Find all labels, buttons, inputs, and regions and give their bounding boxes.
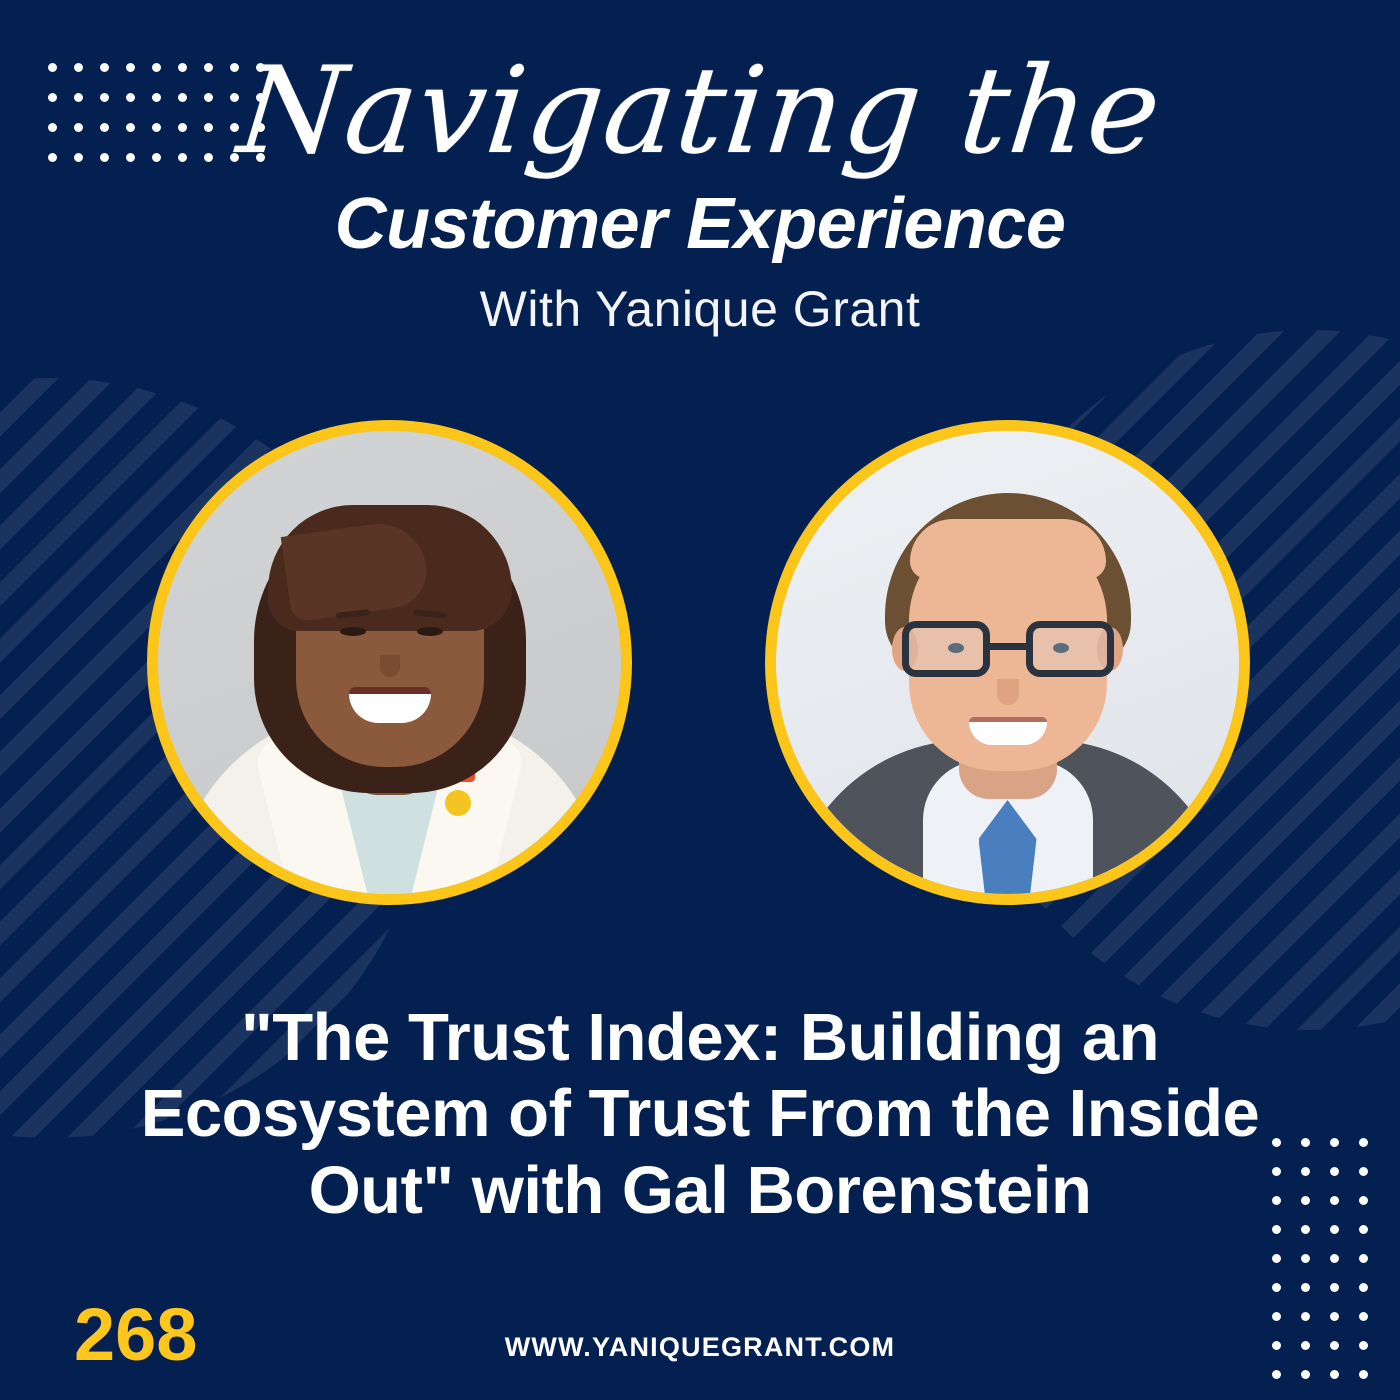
dot-icon [1330,1167,1339,1176]
dot-icon [1359,1254,1368,1263]
dot-icon [1359,1138,1368,1147]
dot-icon [1330,1370,1339,1379]
dot-icon [1272,1254,1281,1263]
guest-lens-right [1026,621,1114,677]
dot-icon [1272,1370,1281,1379]
guest-portrait-image [776,431,1239,894]
dot-icon [1330,1312,1339,1321]
dot-icon [1301,1254,1310,1263]
host-portrait-image [158,431,621,894]
dot-icon [1359,1370,1368,1379]
show-title-main-line: Customer Experience [0,188,1400,260]
guest-nose [997,679,1019,705]
guest-forehead [910,519,1106,579]
show-host-line: With Yanique Grant [0,284,1400,334]
show-branding-header: Navigating the Customer Experience With … [0,0,1400,334]
guest-glasses-bridge [990,643,1026,650]
dot-icon [1272,1283,1281,1292]
podcast-cover-art: Navigating the Customer Experience With … [0,0,1400,1400]
dot-icon [1272,1312,1281,1321]
dot-icon [1359,1167,1368,1176]
dot-icon [1359,1283,1368,1292]
host-portrait [147,420,632,905]
episode-title: "The Trust Index: Building an Ecosystem … [90,1000,1310,1229]
dot-icon [1330,1225,1339,1234]
host-eye-right [417,627,443,636]
eyeglasses-icon [902,621,1114,677]
dot-icon [1330,1138,1339,1147]
dot-icon [1359,1196,1368,1205]
dot-icon [1301,1283,1310,1292]
host-eye-left [340,627,366,636]
host-nose [380,655,400,677]
dot-icon [1359,1312,1368,1321]
dot-icon [1359,1225,1368,1234]
website-url: WWW.YANIQUEGRANT.COM [0,1332,1400,1363]
dot-icon [1330,1283,1339,1292]
guest-portrait [765,420,1250,905]
dot-icon [1301,1370,1310,1379]
guest-lens-left [902,621,990,677]
dot-icon [1301,1312,1310,1321]
guest-smile [969,717,1047,745]
dot-icon [1330,1254,1339,1263]
show-title-script-line: Navigating the [0,52,1400,172]
host-lapel-pin-yellow [445,790,471,816]
dot-icon [1330,1196,1339,1205]
